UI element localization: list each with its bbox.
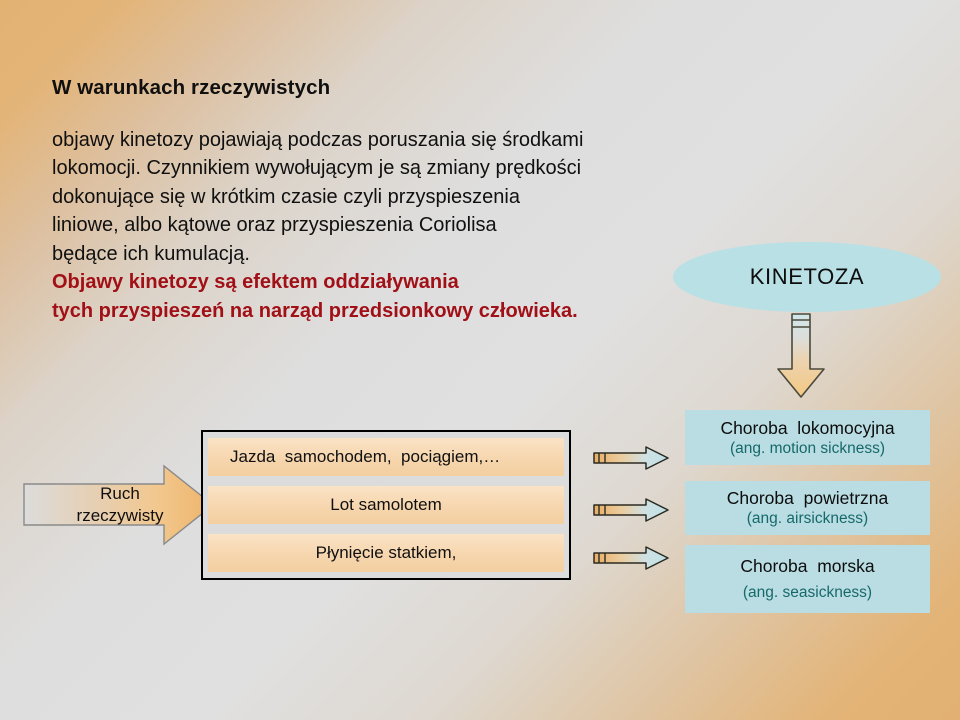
disease-box: Choroba powietrzna (ang. airsickness): [685, 481, 930, 535]
emphasis-line: tych przyspieszeń na narząd przedsionkow…: [52, 297, 712, 326]
connector-arrow-icon: [592, 497, 670, 523]
kinetoza-ellipse: KINETOZA: [673, 242, 941, 312]
disease-name-en: (ang. motion sickness): [730, 439, 885, 459]
disease-name-pl: Choroba powietrzna: [727, 487, 888, 509]
disease-name-pl: Choroba lokomocyjna: [720, 417, 894, 439]
slide-canvas: W warunkach rzeczywistych objawy kinetoz…: [0, 0, 960, 720]
disease-name-en: (ang. airsickness): [747, 509, 868, 529]
body-paragraph: objawy kinetozy pojawiają podczas porusz…: [52, 126, 712, 269]
kinetoza-label: KINETOZA: [750, 264, 864, 290]
down-arrow-icon: [772, 311, 830, 401]
disease-box: Choroba lokomocyjna (ang. motion sicknes…: [685, 410, 930, 465]
source-arrow: Ruch rzeczywisty: [22, 464, 216, 546]
process-row: Lot samolotem: [208, 486, 564, 524]
connector-arrow-icon: [592, 545, 670, 571]
disease-name-en: (ang. seasickness): [743, 583, 872, 603]
emphasis-paragraph: Objawy kinetozy są efektem oddziaływania…: [52, 268, 712, 325]
paragraph-line: liniowe, albo kątowe oraz przyspieszenia…: [52, 211, 712, 240]
process-row: Jazda samochodem, pociągiem,…: [208, 438, 564, 476]
disease-box: Choroba morska (ang. seasickness): [685, 545, 930, 613]
paragraph-line: lokomocji. Czynnikiem wywołującym je są …: [52, 154, 712, 183]
process-box: Jazda samochodem, pociągiem,… Lot samolo…: [201, 430, 571, 580]
paragraph-line: objawy kinetozy pojawiają podczas porusz…: [52, 126, 712, 155]
emphasis-line: Objawy kinetozy są efektem oddziaływania: [52, 268, 712, 297]
connector-arrow-icon: [592, 445, 670, 471]
disease-name-pl: Choroba morska: [740, 555, 874, 577]
process-row: Płynięcie statkiem,: [208, 534, 564, 572]
text-block: W warunkach rzeczywistych objawy kinetoz…: [52, 76, 712, 325]
paragraph-line: będące ich kumulacją.: [52, 240, 712, 269]
paragraph-line: dokonujące się w krótkim czasie czyli pr…: [52, 183, 712, 212]
page-title: W warunkach rzeczywistych: [52, 76, 712, 100]
